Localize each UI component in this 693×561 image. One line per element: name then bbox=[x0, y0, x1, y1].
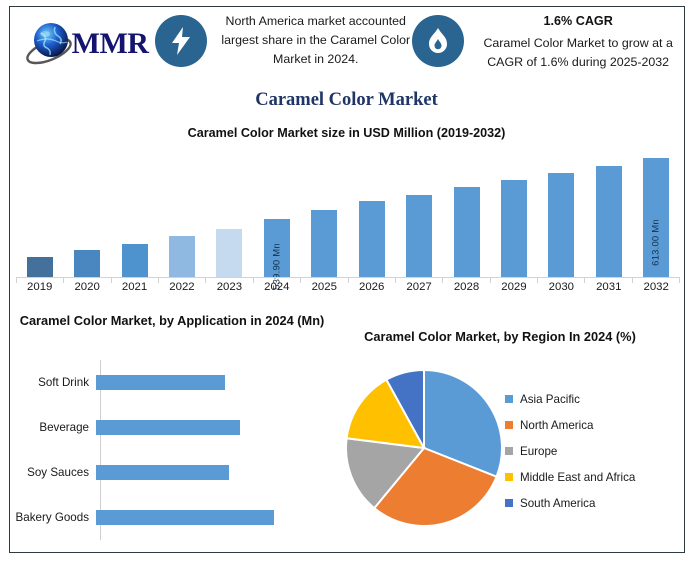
column-chart-plot: 539.90 Mn613.00 Mn bbox=[16, 148, 680, 278]
column-axis-year-label: 2032 bbox=[632, 281, 679, 293]
column-axis-year-label: 2026 bbox=[348, 281, 395, 293]
lightning-bolt-icon bbox=[155, 15, 207, 67]
column-axis-year-label: 2023 bbox=[206, 281, 253, 293]
header-highlight-north-america: North America market accounted largest s… bbox=[219, 8, 412, 70]
column-bar[interactable] bbox=[596, 166, 622, 278]
application-bar-row: Soy Sauces bbox=[14, 450, 330, 495]
column-chart-cell bbox=[111, 148, 158, 278]
column-bar[interactable] bbox=[122, 244, 148, 278]
application-bar-row: Soft Drink bbox=[14, 360, 330, 405]
brand-logo: MMR bbox=[12, 8, 155, 80]
region-pie-chart bbox=[344, 368, 504, 528]
column-axis-year-label: 2025 bbox=[301, 281, 348, 293]
legend-item[interactable]: Asia Pacific bbox=[505, 386, 685, 412]
column-chart-x-labels: 2019202020212022202320242025202620272028… bbox=[16, 281, 680, 293]
header-highlight-cagr: 1.6% CAGR Caramel Color Market to grow a… bbox=[474, 8, 682, 72]
region-chart-title: Caramel Color Market, by Region In 2024 … bbox=[345, 328, 655, 347]
column-bar[interactable] bbox=[169, 236, 195, 278]
column-chart-cell bbox=[206, 148, 253, 278]
column-axis-year-label: 2021 bbox=[111, 281, 158, 293]
column-axis-year-label: 2020 bbox=[63, 281, 110, 293]
application-bar-label: Soft Drink bbox=[14, 376, 96, 389]
column-axis-year-label: 2019 bbox=[16, 281, 63, 293]
column-axis-year-label: 2027 bbox=[395, 281, 442, 293]
column-chart-cell bbox=[395, 148, 442, 278]
application-bar-label: Soy Sauces bbox=[14, 466, 96, 479]
column-axis-year-label: 2022 bbox=[158, 281, 205, 293]
column-chart-cell bbox=[348, 148, 395, 278]
legend-swatch-icon bbox=[505, 447, 513, 455]
column-bar[interactable]: 539.90 Mn bbox=[264, 219, 290, 278]
column-chart-cell bbox=[538, 148, 585, 278]
column-chart-cell bbox=[63, 148, 110, 278]
column-chart-cell: 613.00 Mn bbox=[632, 148, 679, 278]
column-axis-year-label: 2031 bbox=[585, 281, 632, 293]
column-chart: 539.90 Mn613.00 Mn bbox=[16, 146, 680, 278]
application-bar[interactable] bbox=[96, 375, 225, 390]
column-bar[interactable] bbox=[311, 210, 337, 278]
legend-label: North America bbox=[520, 419, 593, 432]
infographic-root: MMR North America market accounted large… bbox=[0, 0, 693, 561]
application-bar-row: Beverage bbox=[14, 405, 330, 450]
globe-icon bbox=[25, 17, 79, 71]
column-bar[interactable]: 613.00 Mn bbox=[643, 158, 669, 278]
column-chart-cell: 539.90 Mn bbox=[253, 148, 300, 278]
column-chart-cell bbox=[301, 148, 348, 278]
column-bar[interactable] bbox=[548, 173, 574, 278]
column-bar[interactable] bbox=[27, 257, 53, 278]
application-chart-title: Caramel Color Market, by Application in … bbox=[14, 312, 330, 331]
legend-swatch-icon bbox=[505, 421, 513, 429]
legend-label: Asia Pacific bbox=[520, 393, 580, 406]
column-bar[interactable] bbox=[216, 229, 242, 278]
column-chart-cell bbox=[490, 148, 537, 278]
application-bar-label: Beverage bbox=[14, 421, 96, 434]
column-bar[interactable] bbox=[454, 187, 480, 278]
legend-swatch-icon bbox=[505, 395, 513, 403]
legend-swatch-icon bbox=[505, 499, 513, 507]
application-bar[interactable] bbox=[96, 510, 274, 525]
application-bar[interactable] bbox=[96, 465, 229, 480]
column-bar[interactable] bbox=[406, 195, 432, 279]
legend-item[interactable]: North America bbox=[505, 412, 685, 438]
column-axis-year-label: 2024 bbox=[253, 281, 300, 293]
header-bar: MMR North America market accounted large… bbox=[12, 8, 682, 88]
application-chart: Soft DrinkBeverageSoy SaucesBakery Goods bbox=[14, 360, 330, 540]
column-chart-title: Caramel Color Market size in USD Million… bbox=[0, 126, 693, 140]
application-bar-label: Bakery Goods bbox=[14, 511, 96, 524]
legend-label: South America bbox=[520, 497, 595, 510]
column-bar[interactable] bbox=[74, 250, 100, 278]
page-title: Caramel Color Market bbox=[0, 90, 693, 111]
region-pie-legend: Asia PacificNorth AmericaEuropeMiddle Ea… bbox=[505, 386, 685, 516]
cagr-value: 1.6% CAGR bbox=[474, 12, 682, 32]
column-chart-cell bbox=[16, 148, 63, 278]
column-bar[interactable] bbox=[501, 180, 527, 278]
application-bar[interactable] bbox=[96, 420, 240, 435]
cagr-description: Caramel Color Market to grow at a CAGR o… bbox=[474, 34, 682, 72]
column-chart-cell bbox=[443, 148, 490, 278]
legend-label: Middle East and Africa bbox=[520, 471, 635, 484]
column-axis-year-label: 2029 bbox=[490, 281, 537, 293]
legend-swatch-icon bbox=[505, 473, 513, 481]
column-axis-year-label: 2030 bbox=[538, 281, 585, 293]
column-bar[interactable] bbox=[359, 201, 385, 278]
legend-item[interactable]: South America bbox=[505, 490, 685, 516]
brand-name: MMR bbox=[72, 29, 149, 59]
legend-item[interactable]: Middle East and Africa bbox=[505, 464, 685, 490]
column-chart-cell bbox=[585, 148, 632, 278]
column-bar-value-label: 613.00 Mn bbox=[651, 219, 662, 266]
application-bar-row: Bakery Goods bbox=[14, 495, 330, 540]
application-chart-rows: Soft DrinkBeverageSoy SaucesBakery Goods bbox=[14, 360, 330, 540]
column-axis-year-label: 2028 bbox=[443, 281, 490, 293]
legend-item[interactable]: Europe bbox=[505, 438, 685, 464]
column-chart-cell bbox=[158, 148, 205, 278]
flame-icon bbox=[412, 15, 464, 67]
legend-label: Europe bbox=[520, 445, 557, 458]
